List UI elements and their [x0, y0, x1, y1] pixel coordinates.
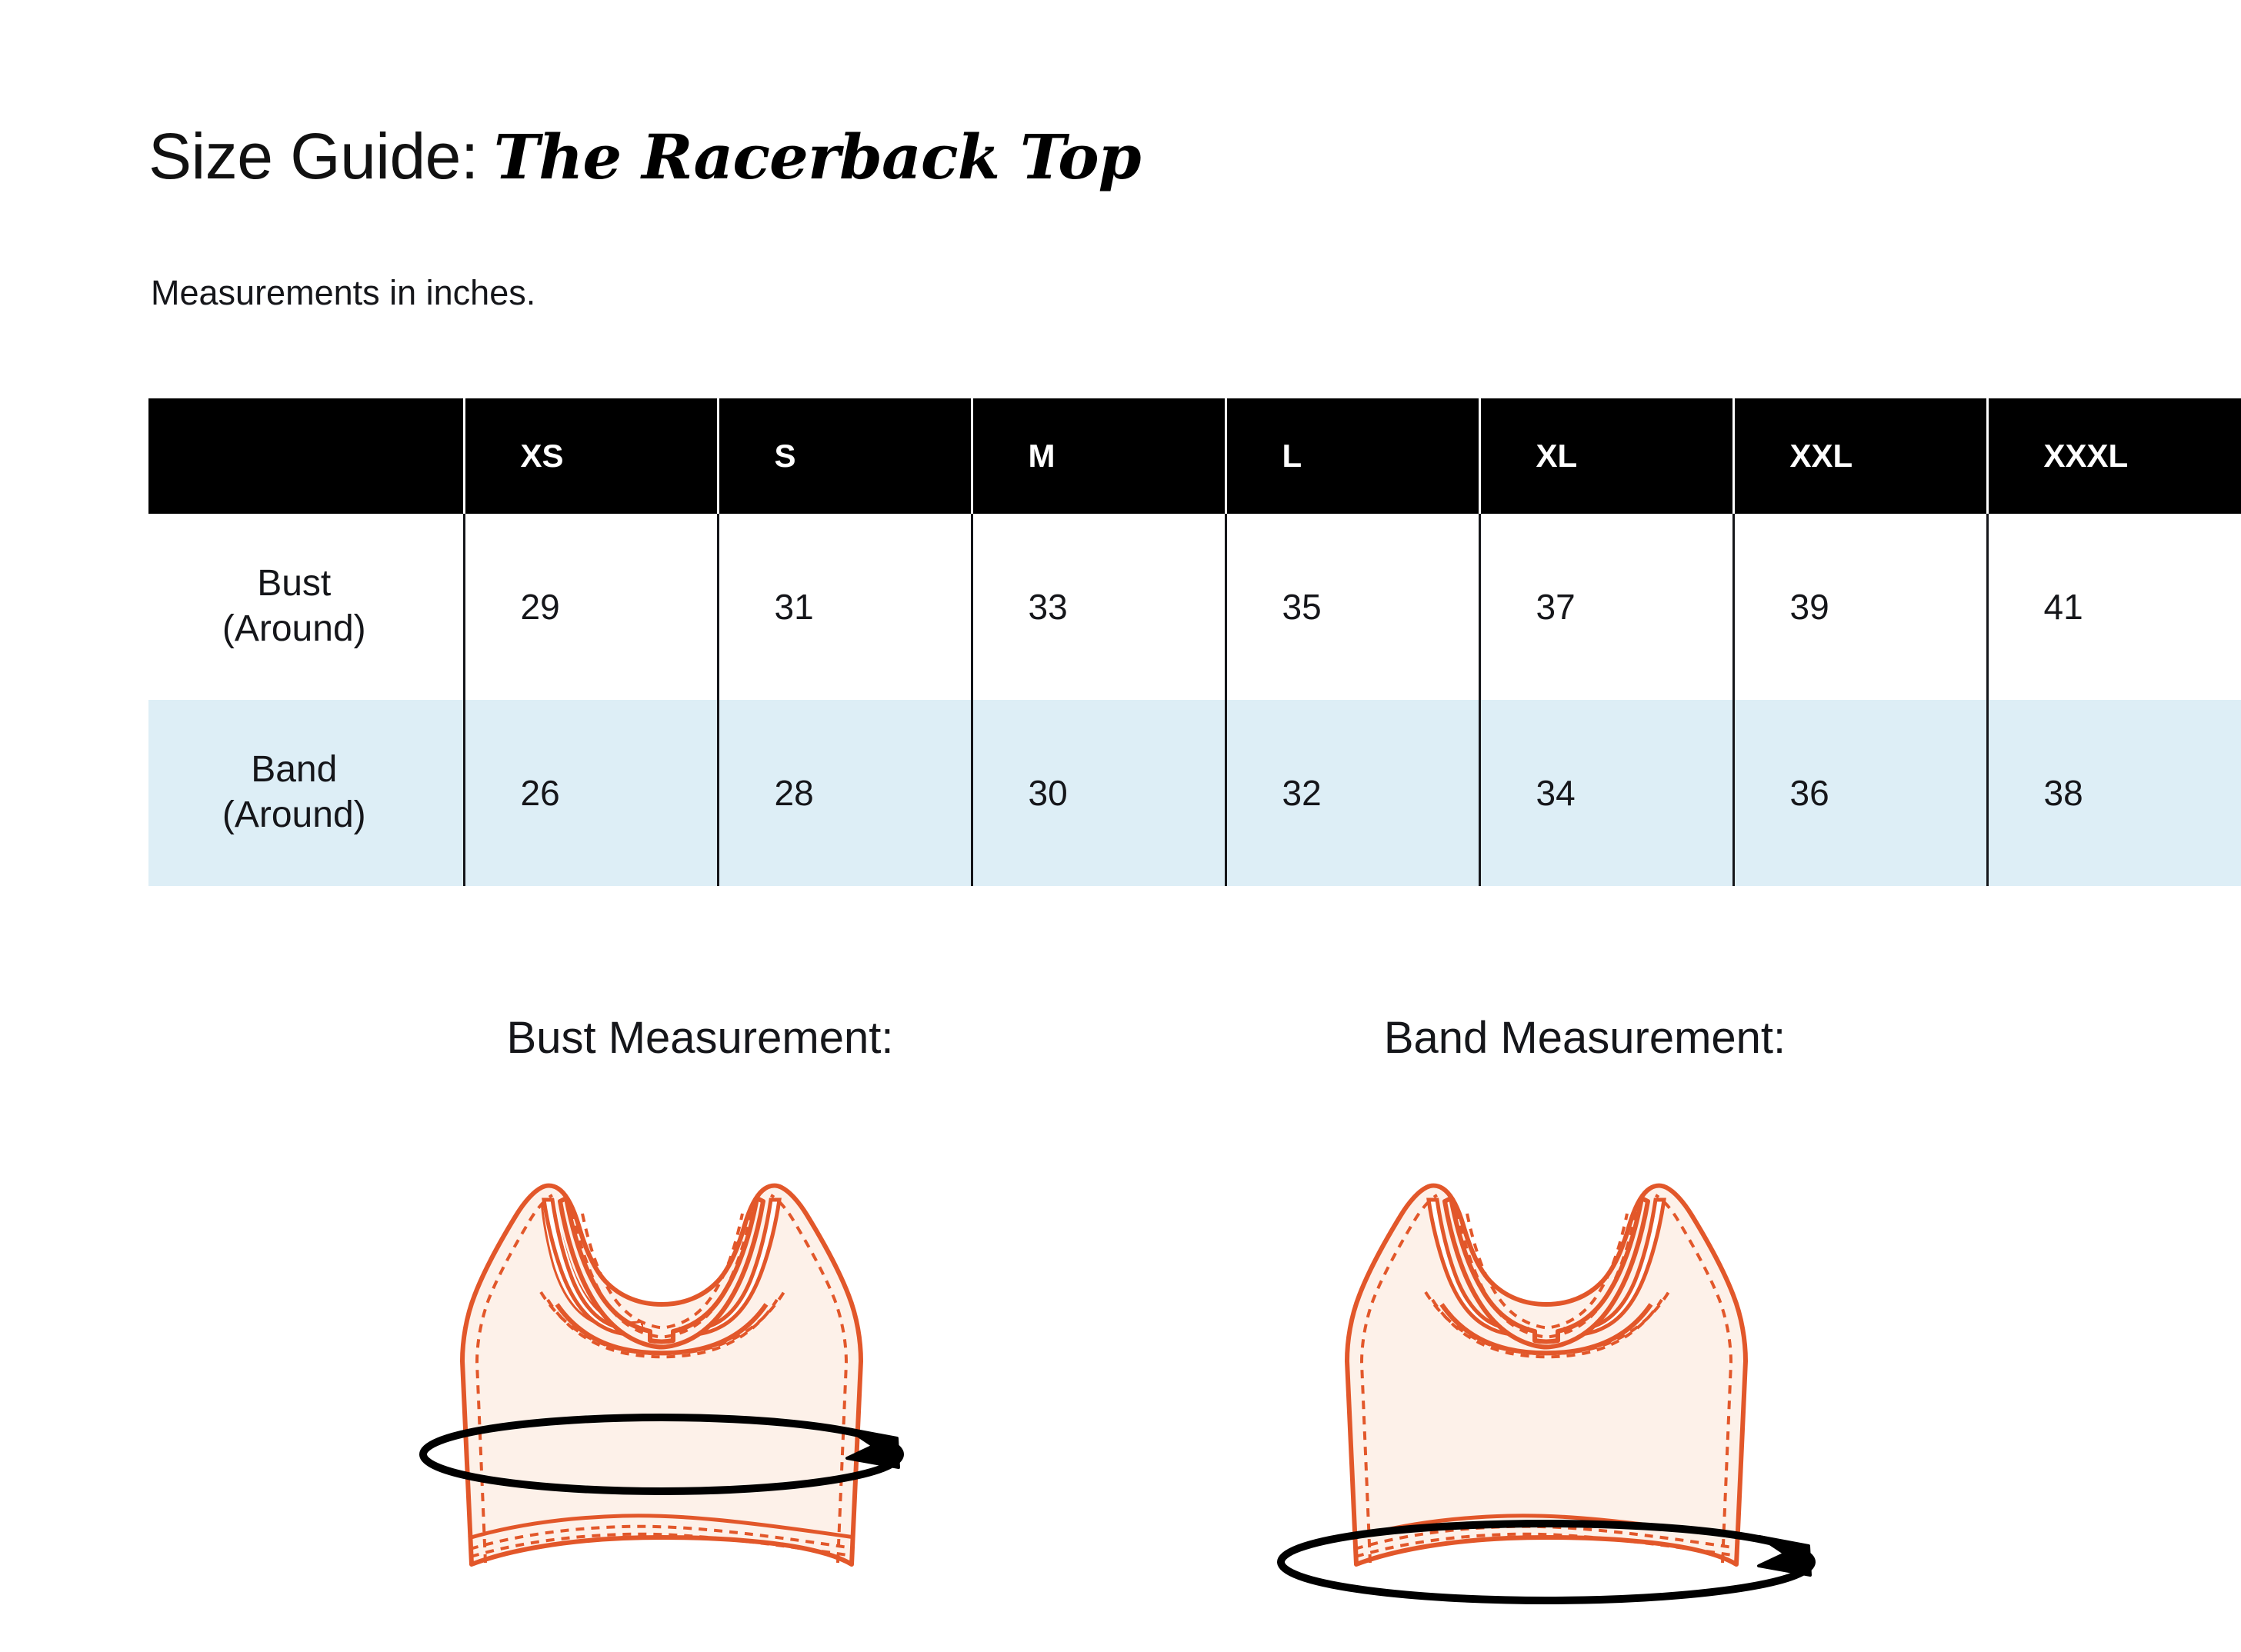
cell-band-xs: 26: [464, 700, 718, 886]
measurement-figures: Bust Measurement:: [0, 1014, 2241, 1652]
cell-band-xxxl: 38: [1987, 700, 2241, 886]
racerback-top-band-diagram-icon: [1131, 1098, 2039, 1637]
cell-band-xl: 34: [1479, 700, 1733, 886]
size-chart-body: Bust (Around) 29 31 33 35 37 39 41 Band …: [148, 514, 2241, 886]
tape-arrow-icon: [1759, 1537, 1810, 1575]
figure-bust-caption: Bust Measurement:: [246, 1014, 1154, 1098]
cell-band-xxl: 36: [1733, 700, 1987, 886]
header-cell-xxl: XXL: [1733, 398, 1987, 514]
cell-bust-m: 33: [972, 514, 1226, 700]
page-subtitle: Measurements in inches.: [151, 273, 535, 313]
row-label-band-line2: (Around): [222, 794, 366, 835]
table-header-row: XS S M L XL XXL XXXL: [148, 398, 2241, 514]
row-label-band: Band (Around): [148, 700, 464, 886]
row-label-bust-line1: Bust: [257, 563, 331, 604]
header-cell-xxxl: XXXL: [1987, 398, 2241, 514]
cell-band-l: 32: [1226, 700, 1479, 886]
table-row: Bust (Around) 29 31 33 35 37 39 41: [148, 514, 2241, 700]
cell-band-m: 30: [972, 700, 1226, 886]
header-cell-l: L: [1226, 398, 1479, 514]
page-title: Size Guide: The Racerback Top: [148, 119, 1141, 194]
header-cell-xl: XL: [1479, 398, 1733, 514]
header-cell-xs: XS: [464, 398, 718, 514]
figure-bust-measurement: Bust Measurement:: [246, 1014, 1154, 1652]
row-label-bust: Bust (Around): [148, 514, 464, 700]
cell-band-s: 28: [718, 700, 972, 886]
row-label-bust-line2: (Around): [222, 608, 366, 649]
page-title-accent: The Racerback Top: [494, 121, 1141, 193]
header-cell-m: M: [972, 398, 1226, 514]
header-cell-s: S: [718, 398, 972, 514]
size-chart-table: XS S M L XL XXL XXXL Bust (Around) 29 31…: [148, 398, 2241, 886]
header-cell-blank: [148, 398, 464, 514]
page-title-plain: Size Guide:: [148, 119, 479, 194]
cell-bust-xxxl: 41: [1987, 514, 2241, 700]
table-row: Band (Around) 26 28 30 32 34 36 38: [148, 700, 2241, 886]
size-guide-page: Size Guide: The Racerback Top Measuremen…: [0, 0, 2241, 1652]
figure-band-caption: Band Measurement:: [1131, 1014, 2039, 1098]
figure-band-measurement: Band Measurement:: [1131, 1014, 2039, 1652]
cell-bust-xl: 37: [1479, 514, 1733, 700]
cell-bust-s: 31: [718, 514, 972, 700]
row-label-band-line1: Band: [251, 749, 337, 790]
racerback-top-bust-diagram-icon: [246, 1098, 1154, 1637]
cell-bust-xxl: 39: [1733, 514, 1987, 700]
cell-bust-l: 35: [1226, 514, 1479, 700]
size-chart-header: XS S M L XL XXL XXXL: [148, 398, 2241, 514]
cell-bust-xs: 29: [464, 514, 718, 700]
